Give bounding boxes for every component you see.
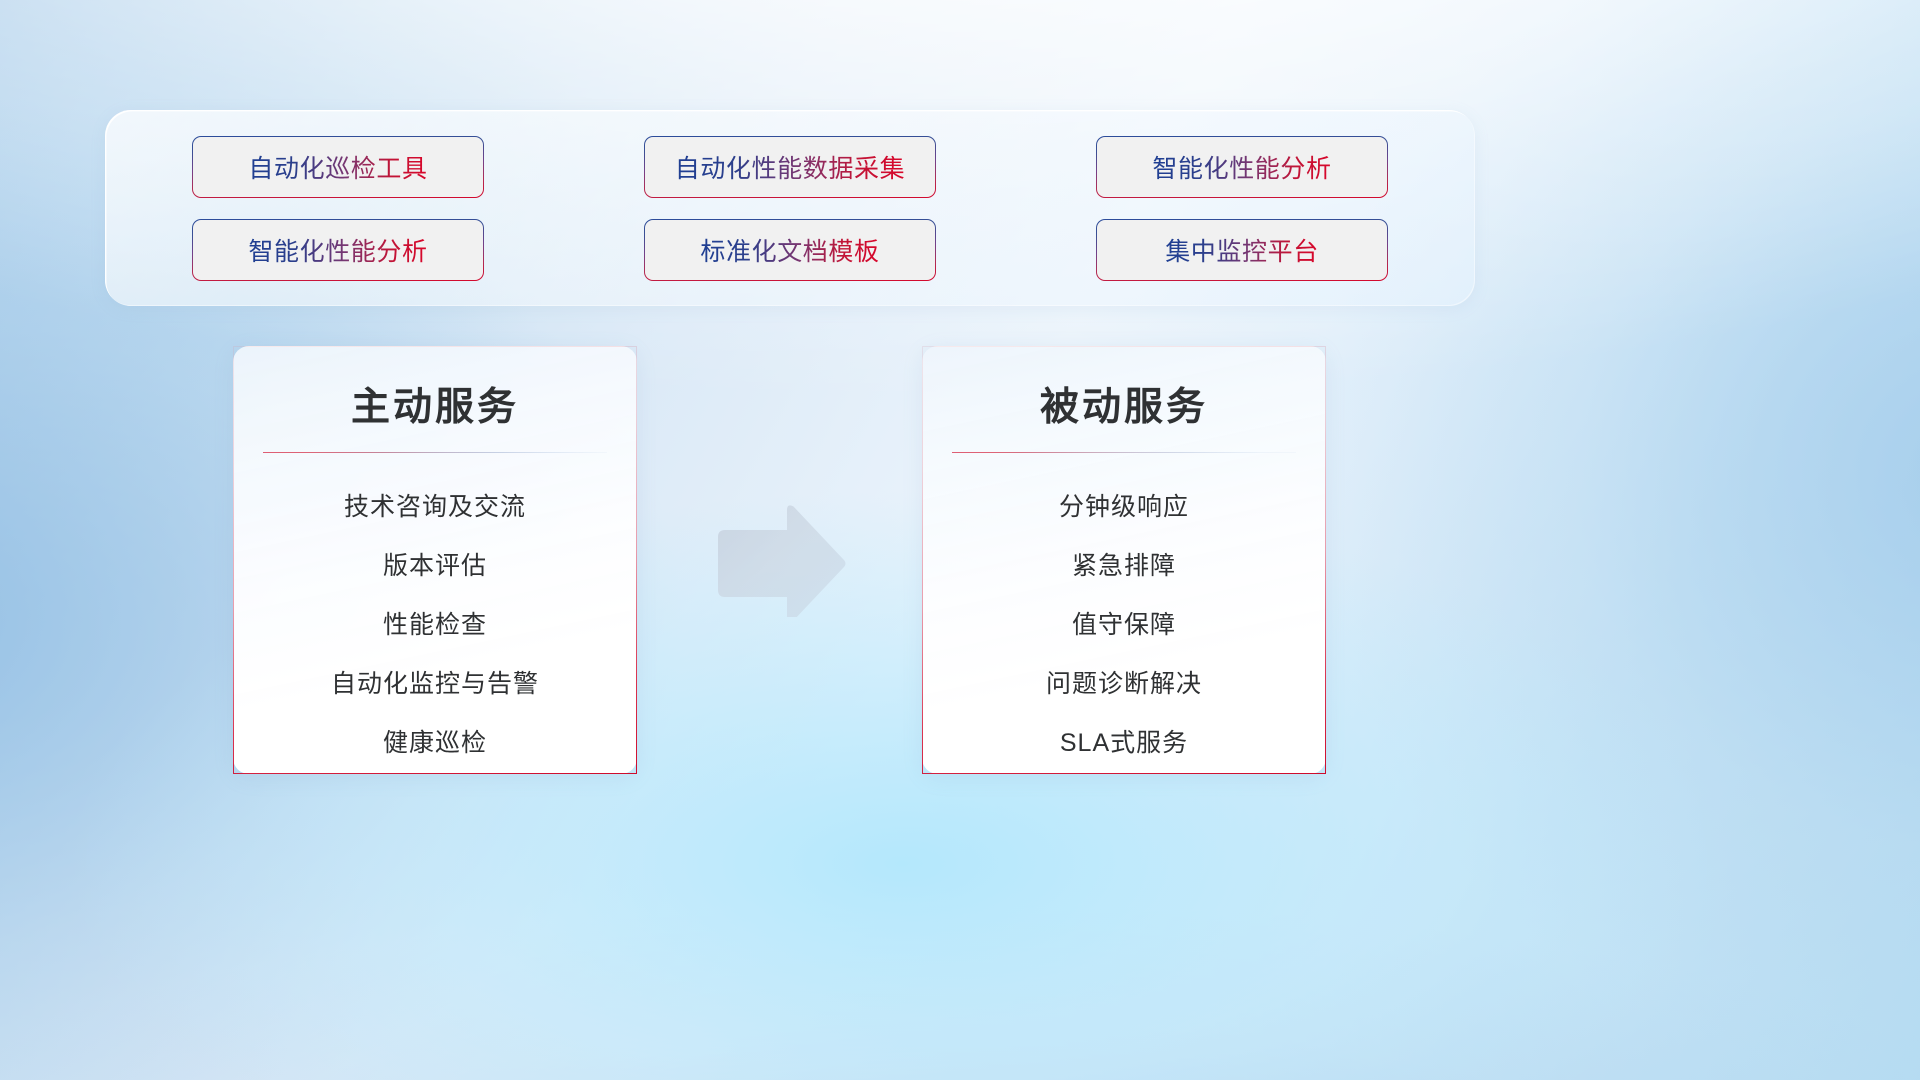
card-item-list: 技术咨询及交流 版本评估 性能检查 自动化监控与告警 健康巡检 <box>331 478 539 773</box>
service-card-reactive: 被动服务 分钟级响应 紧急排障 值守保障 问题诊断解决 SLA式服务 <box>922 346 1326 774</box>
capability-tools-panel: 自动化巡检工具 自动化性能数据采集 智能化性能分析 智能化性能分析 标准化文档模… <box>105 110 1475 306</box>
list-item: 技术咨询及交流 <box>344 478 526 537</box>
tag-intelligent-perf-analysis-bottom[interactable]: 智能化性能分析 <box>192 219 484 281</box>
list-item: 问题诊断解决 <box>1046 655 1202 714</box>
tag-label: 集中监控平台 <box>1165 232 1319 268</box>
tag-label: 智能化性能分析 <box>248 232 427 268</box>
list-item: 自动化监控与告警 <box>331 655 539 714</box>
card-item-list: 分钟级响应 紧急排障 值守保障 问题诊断解决 SLA式服务 <box>1046 478 1202 773</box>
service-card-proactive: 主动服务 技术咨询及交流 版本评估 性能检查 自动化监控与告警 健康巡检 <box>233 346 637 774</box>
tag-label: 自动化巡检工具 <box>248 149 427 185</box>
list-item: SLA式服务 <box>1060 714 1188 773</box>
card-title: 被动服务 <box>1040 376 1208 432</box>
tag-automated-perf-data-collection[interactable]: 自动化性能数据采集 <box>644 136 936 198</box>
tag-centralized-monitoring-platform[interactable]: 集中监控平台 <box>1096 219 1388 281</box>
flow-arrow-right-icon <box>713 501 849 617</box>
tag-automated-inspection-tool[interactable]: 自动化巡检工具 <box>192 136 484 198</box>
list-item: 分钟级响应 <box>1059 478 1189 537</box>
list-item: 健康巡检 <box>383 714 487 773</box>
card-divider-gradient <box>263 452 607 453</box>
list-item: 值守保障 <box>1072 596 1176 655</box>
list-item: 紧急排障 <box>1072 537 1176 596</box>
card-title: 主动服务 <box>351 376 519 432</box>
list-item: 版本评估 <box>383 537 487 596</box>
tag-label: 标准化文档模板 <box>700 232 879 268</box>
tag-standardized-doc-template[interactable]: 标准化文档模板 <box>644 219 936 281</box>
list-item: 性能检查 <box>383 596 487 655</box>
capability-tag-grid: 自动化巡检工具 自动化性能数据采集 智能化性能分析 智能化性能分析 标准化文档模… <box>192 136 1388 281</box>
tag-intelligent-perf-analysis-top[interactable]: 智能化性能分析 <box>1096 136 1388 198</box>
tag-label: 自动化性能数据采集 <box>675 149 905 185</box>
slide-canvas: 自动化巡检工具 自动化性能数据采集 智能化性能分析 智能化性能分析 标准化文档模… <box>0 0 1920 1080</box>
tag-label: 智能化性能分析 <box>1152 149 1331 185</box>
card-divider-gradient <box>952 452 1296 453</box>
